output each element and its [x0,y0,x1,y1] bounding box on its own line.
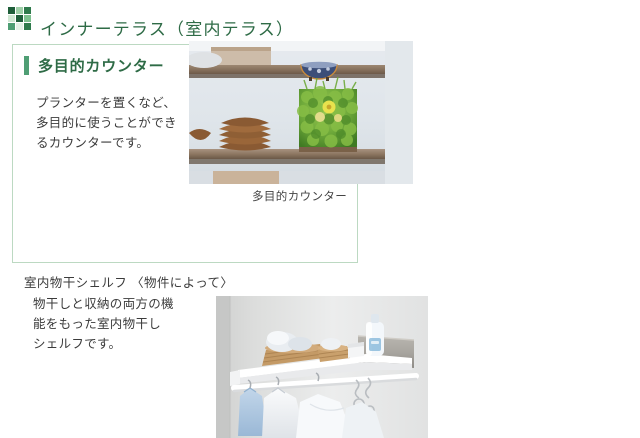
grid-cell [16,7,23,14]
drying-shelf-illustration [216,292,428,438]
grid-cell [16,15,23,22]
photo-caption: 多目的カウンター [252,188,347,204]
grid-squares-icon [8,7,31,30]
section-body-text: プランターを置くなど、 多目的に使うことができ るカウンターです。 [36,93,201,153]
grid-cell [24,15,31,22]
section-heading: 多目的カウンター [38,55,164,76]
grid-cell [24,7,31,14]
grid-cell [8,23,15,30]
subsection-heading: 室内物干シェルフ 〈物件によって〉 [24,272,233,291]
accent-bar-icon [24,56,29,75]
multipurpose-counter-photo [189,41,413,184]
header-divider [0,36,640,37]
section-heading-group: 多目的カウンター [24,55,164,76]
indoor-drying-shelf-photo [216,292,428,438]
grid-cell [24,23,31,30]
page-header: インナーテラス（室内テラス） [0,0,640,37]
grid-cell [8,7,15,14]
grid-cell [8,15,15,22]
page-root: インナーテラス（室内テラス） 多目的カウンター プランターを置くなど、 多目的に… [0,0,640,438]
subsection-body-text: 物干しと収納の両方の機 能をもった室内物干し シェルフです。 [33,294,203,354]
grid-cell [16,23,23,30]
counter-photo-illustration [189,41,413,184]
